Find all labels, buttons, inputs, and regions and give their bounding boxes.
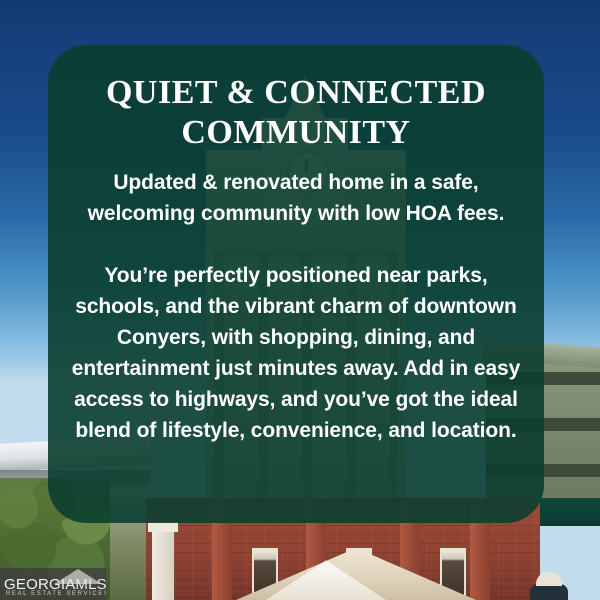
person-silhouette bbox=[530, 584, 568, 600]
georgiamls-watermark: GEORGIAMLS REAL ESTATE SERVICES bbox=[0, 568, 106, 600]
paragraph-1: Updated & renovated home in a safe, welc… bbox=[62, 167, 530, 229]
listing-graphic: Quiet & Connected Community Updated & re… bbox=[0, 0, 600, 600]
paragraph-2: You’re perfectly positioned near parks, … bbox=[62, 260, 530, 446]
watermark-tagline: REAL ESTATE SERVICES bbox=[6, 591, 106, 597]
overlay-card: Quiet & Connected Community Updated & re… bbox=[48, 45, 544, 523]
lamp-post bbox=[152, 530, 174, 600]
body-copy: Updated & renovated home in a safe, welc… bbox=[62, 167, 530, 446]
page-title: Quiet & Connected Community bbox=[48, 73, 544, 153]
